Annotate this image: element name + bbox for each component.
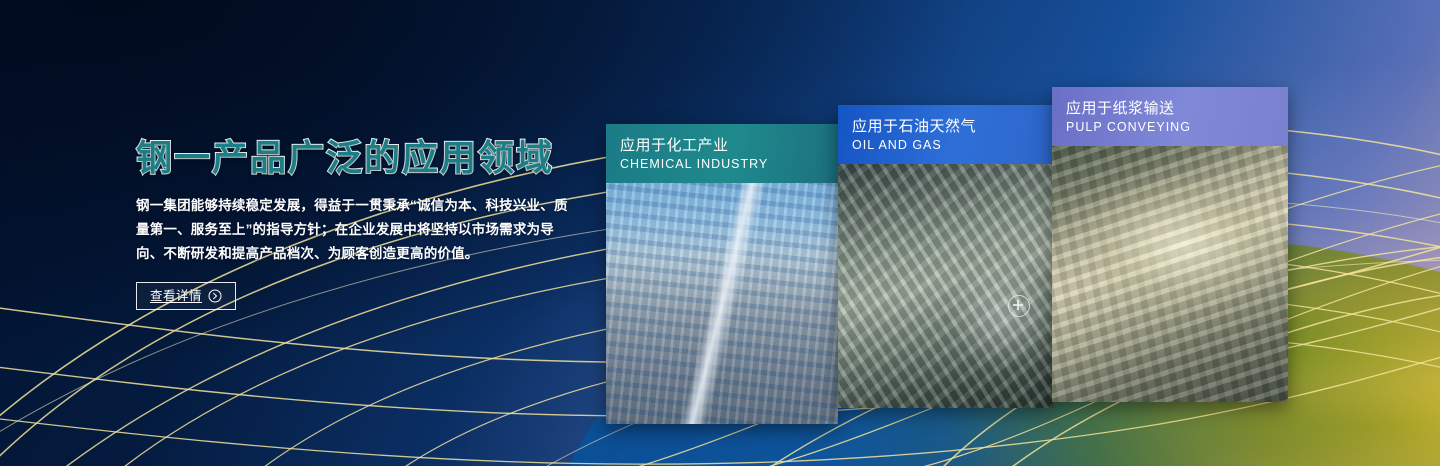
- hero-description: 钢一集团能够持续稳定发展，得益于一贯秉承“诚信为本、科技兴业、质量第一、服务至上…: [136, 194, 576, 266]
- card-title-cn: 应用于纸浆输送: [1066, 99, 1288, 119]
- oil-and-gas-pipes-photo: [838, 164, 1054, 408]
- card-header-chemical: 应用于化工产业 CHEMICAL INDUSTRY: [606, 124, 838, 183]
- card-photo-oil-gas: [838, 164, 1054, 408]
- card-header-pulp: 应用于纸浆输送 PULP CONVEYING: [1052, 87, 1288, 146]
- card-title-en: OIL AND GAS: [852, 137, 1054, 154]
- card-title-en: PULP CONVEYING: [1066, 119, 1288, 136]
- card-photo-pulp: [1052, 146, 1288, 402]
- zoom-in-icon[interactable]: [1008, 295, 1030, 317]
- card-header-oil-gas: 应用于石油天然气 OIL AND GAS: [838, 105, 1054, 164]
- application-card-pulp[interactable]: 应用于纸浆输送 PULP CONVEYING: [1052, 87, 1288, 402]
- view-details-button[interactable]: 查看详情: [136, 282, 236, 310]
- chemical-plant-photo: [606, 183, 838, 424]
- card-title-cn: 应用于石油天然气: [852, 117, 1054, 137]
- card-title-en: CHEMICAL INDUSTRY: [620, 156, 838, 173]
- card-title-cn: 应用于化工产业: [620, 136, 838, 156]
- page-title: 钢一产品广泛的应用领域: [136, 136, 596, 180]
- view-details-label: 查看详情: [150, 290, 202, 303]
- application-card-chemical[interactable]: 应用于化工产业 CHEMICAL INDUSTRY: [606, 124, 838, 424]
- hero-text-block: 钢一产品广泛的应用领域 钢一集团能够持续稳定发展，得益于一贯秉承“诚信为本、科技…: [136, 136, 596, 310]
- hero-banner: 钢一产品广泛的应用领域 钢一集团能够持续稳定发展，得益于一贯秉承“诚信为本、科技…: [0, 0, 1440, 466]
- application-card-oil-gas[interactable]: 应用于石油天然气 OIL AND GAS: [838, 105, 1054, 408]
- circle-arrow-right-icon: [208, 289, 222, 303]
- pulp-conveying-roller-photo: [1052, 146, 1288, 402]
- card-photo-chemical: [606, 183, 838, 424]
